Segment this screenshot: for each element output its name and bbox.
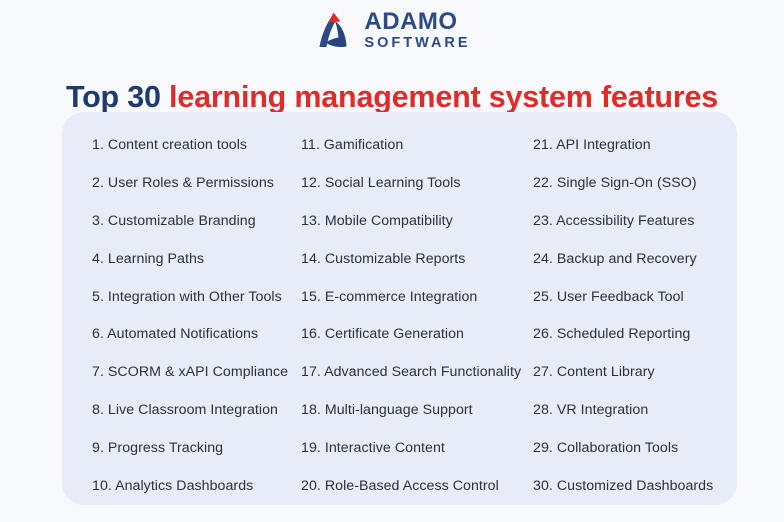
list-item: 9. Progress Tracking [92, 429, 297, 467]
list-item: 4. Learning Paths [92, 240, 297, 278]
list-item: 1. Content creation tools [92, 126, 297, 164]
list-item: 7. SCORM & xAPI Compliance [92, 353, 297, 391]
list-item: 20. Role-Based Access Control [301, 467, 533, 505]
list-item: 8. Live Classroom Integration [92, 391, 297, 429]
list-item: 2. User Roles & Permissions [92, 164, 297, 202]
list-item: 18. Multi-language Support [301, 391, 533, 429]
list-item: 27. Content Library [533, 353, 737, 391]
adamo-a-mark-icon [313, 9, 355, 51]
features-columns: 1. Content creation tools 2. User Roles … [62, 112, 737, 505]
features-column-2: 11. Gamification 12. Social Learning Too… [297, 126, 533, 505]
list-item: 10. Analytics Dashboards [92, 467, 297, 505]
list-item: 24. Backup and Recovery [533, 240, 737, 278]
list-item: 29. Collaboration Tools [533, 429, 737, 467]
list-item: 26. Scheduled Reporting [533, 316, 737, 354]
list-item: 3. Customizable Branding [92, 202, 297, 240]
page-title-accent: learning management system features [169, 80, 718, 114]
page-title: Top 30 learning management system featur… [0, 80, 784, 115]
list-item: 15. E-commerce Integration [301, 278, 533, 316]
list-item: 5. Integration with Other Tools [92, 278, 297, 316]
page-title-lead: Top 30 [66, 80, 161, 114]
features-panel: 1. Content creation tools 2. User Roles … [62, 112, 737, 505]
list-item: 25. User Feedback Tool [533, 278, 737, 316]
list-item: 23. Accessibility Features [533, 202, 737, 240]
list-item: 12. Social Learning Tools [301, 164, 533, 202]
list-item: 17. Advanced Search Functionality [301, 353, 533, 391]
features-column-1: 1. Content creation tools 2. User Roles … [62, 126, 297, 505]
list-item: 11. Gamification [301, 126, 533, 164]
features-column-3: 21. API Integration 22. Single Sign-On (… [533, 126, 737, 505]
brand-logo: ADAMO SOFTWARE [0, 6, 784, 54]
list-item: 28. VR Integration [533, 391, 737, 429]
list-item: 16. Certificate Generation [301, 316, 533, 354]
brand-subtitle: SOFTWARE [364, 36, 470, 51]
list-item: 13. Mobile Compatibility [301, 202, 533, 240]
list-item: 14. Customizable Reports [301, 240, 533, 278]
brand-name: ADAMO [364, 10, 470, 34]
list-item: 21. API Integration [533, 126, 737, 164]
list-item: 30. Customized Dashboards [533, 467, 737, 505]
list-item: 6. Automated Notifications [92, 316, 297, 354]
brand-wordmark: ADAMO SOFTWARE [364, 10, 470, 51]
list-item: 22. Single Sign-On (SSO) [533, 164, 737, 202]
list-item: 19. Interactive Content [301, 429, 533, 467]
